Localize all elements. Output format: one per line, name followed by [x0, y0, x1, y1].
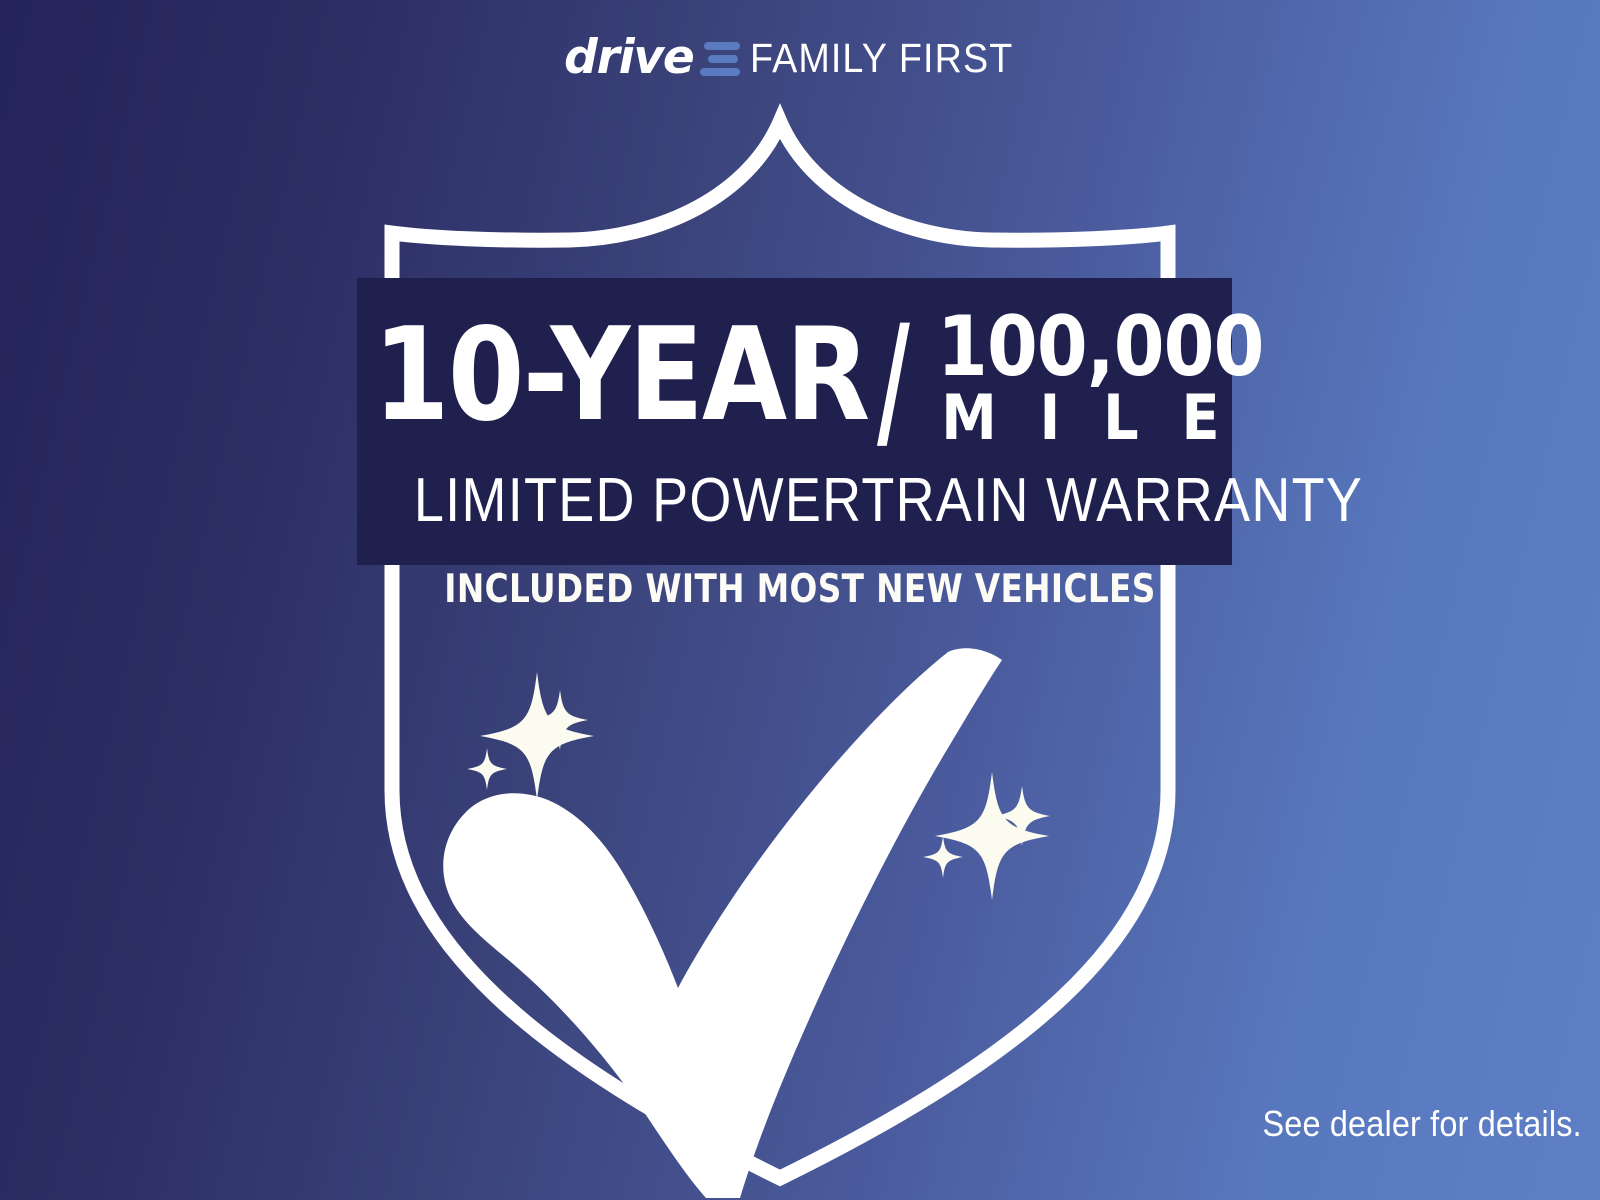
term-separator: / — [877, 306, 910, 456]
warranty-term-band: 10-YEAR / 100,000 M I L E LIMITED POWERT… — [357, 278, 1232, 565]
term-mileage-group: 100,000 M I L E — [919, 310, 1219, 449]
four-point-sparkle-icon — [480, 672, 594, 800]
coverage-type: LIMITED POWERTRAIN WARRANTY — [414, 470, 1175, 532]
term-years: 10-YEAR — [373, 312, 869, 440]
term-mileage-unit: M I L E — [941, 387, 1211, 449]
sparkle-cluster-right — [923, 772, 1050, 900]
inclusion-note: INCLUDED WITH MOST NEW VEHICLES — [128, 570, 1472, 609]
four-point-sparkle-icon — [923, 836, 963, 878]
term-mileage: 100,000 — [937, 310, 1201, 383]
four-point-sparkle-icon — [467, 748, 507, 790]
disclaimer-text: See dealer for details. — [1263, 1106, 1582, 1142]
warranty-headline: 10-YEAR / 100,000 M I L E — [357, 304, 1232, 466]
warranty-badge-graphic: drive FAMILY FIRST — [0, 0, 1600, 1200]
four-point-sparkle-icon — [935, 772, 1049, 900]
sparkle-cluster-left — [467, 672, 594, 800]
